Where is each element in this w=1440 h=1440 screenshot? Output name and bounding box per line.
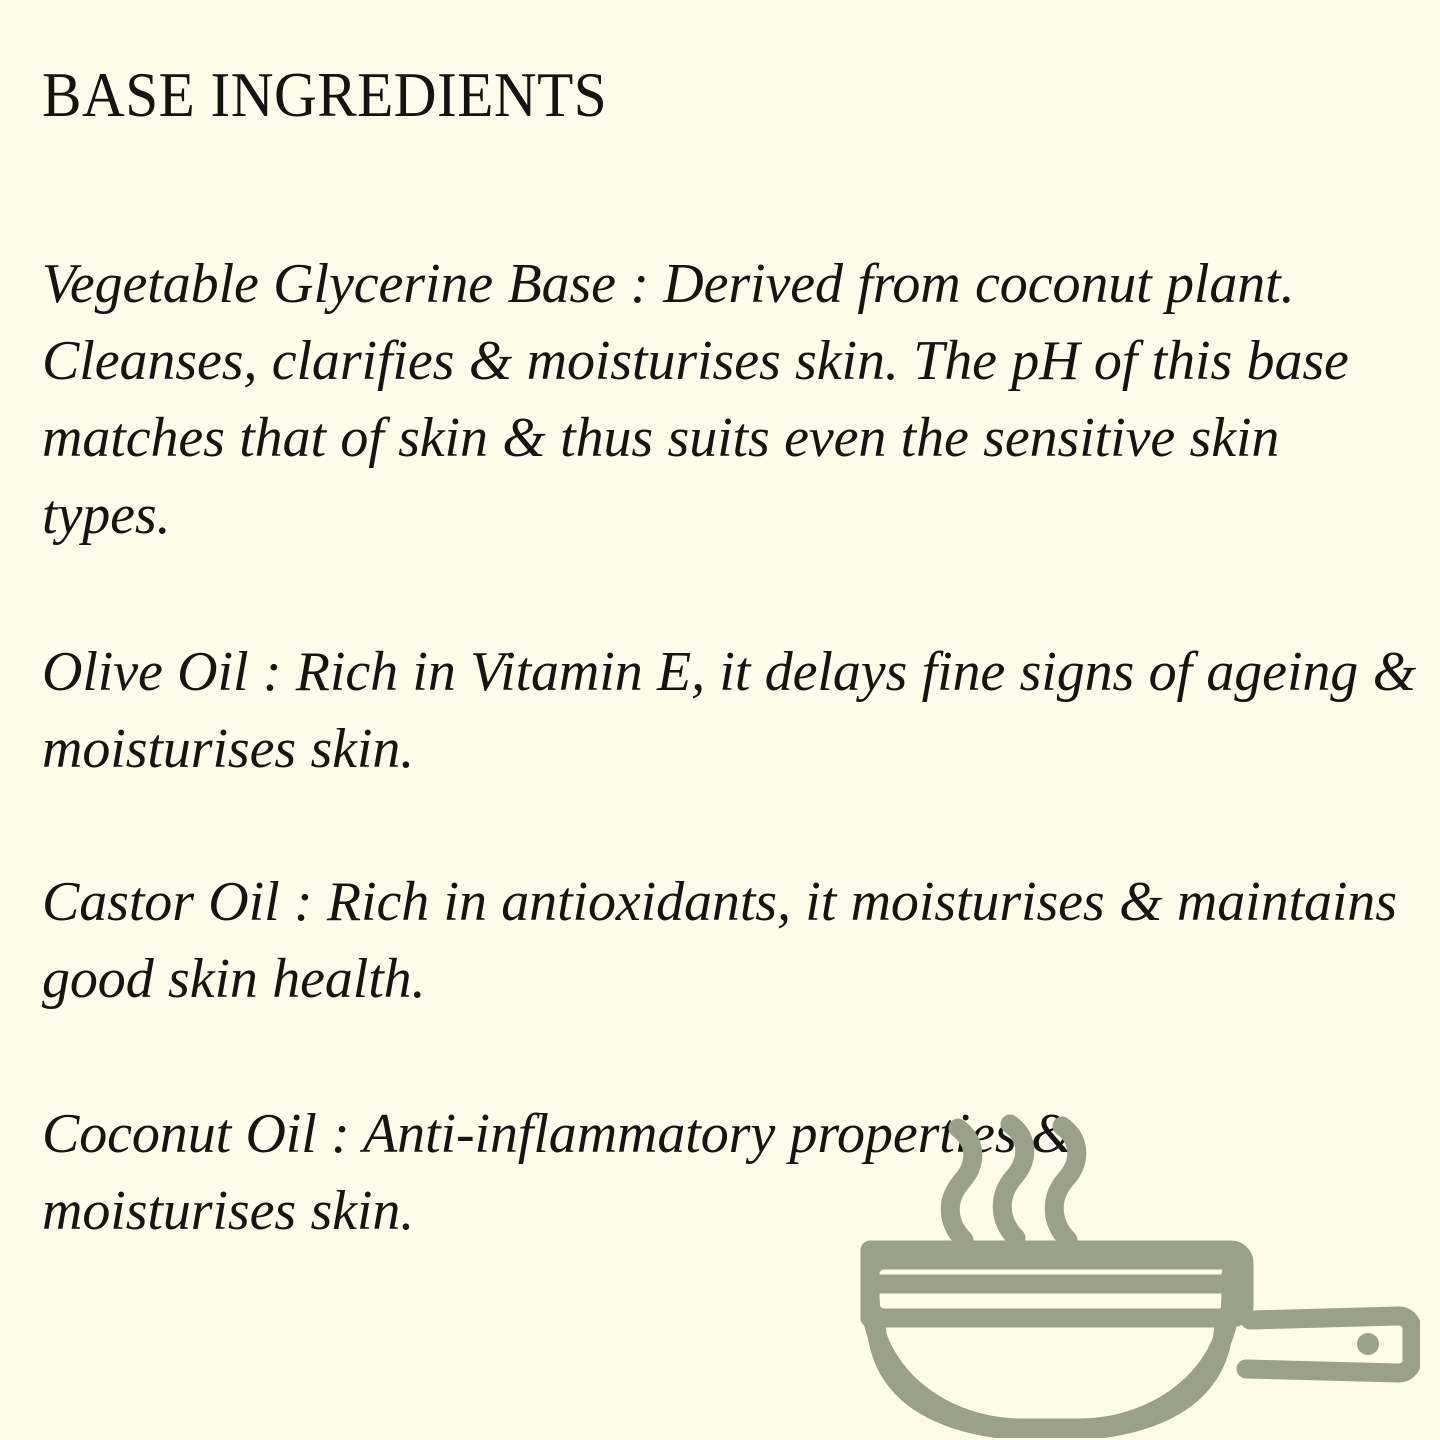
poster-canvas: BASE INGREDIENTS Vegetable Glycerine Bas… [0,0,1440,1440]
pan-rim-outline [870,1261,1244,1305]
pan-bowl-curve [876,1318,1224,1432]
ingredient-paragraph-vegetable-glycerine-base: Vegetable Glycerine Base : Derived from … [42,246,1412,554]
ingredient-paragraph-castor-oil: Castor Oil : Rich in antioxidants, it mo… [42,864,1412,1018]
ingredient-paragraph-coconut-oil: Coconut Oil : Anti-inflammatory properti… [42,1096,1342,1250]
pan-handle [1246,1316,1412,1373]
pan-rim-rect [870,1260,1244,1318]
ingredient-paragraph-olive-oil: Olive Oil : Rich in Vitamin E, it delays… [42,634,1422,788]
pan-rim-and-bowl [870,1284,1231,1428]
pan-handle-hole [1357,1333,1379,1355]
pan-group [870,1250,1412,1428]
pan-outline-clean [870,1260,1244,1432]
pan-rim-band [870,1250,1244,1318]
page-title: BASE INGREDIENTS [42,64,607,127]
